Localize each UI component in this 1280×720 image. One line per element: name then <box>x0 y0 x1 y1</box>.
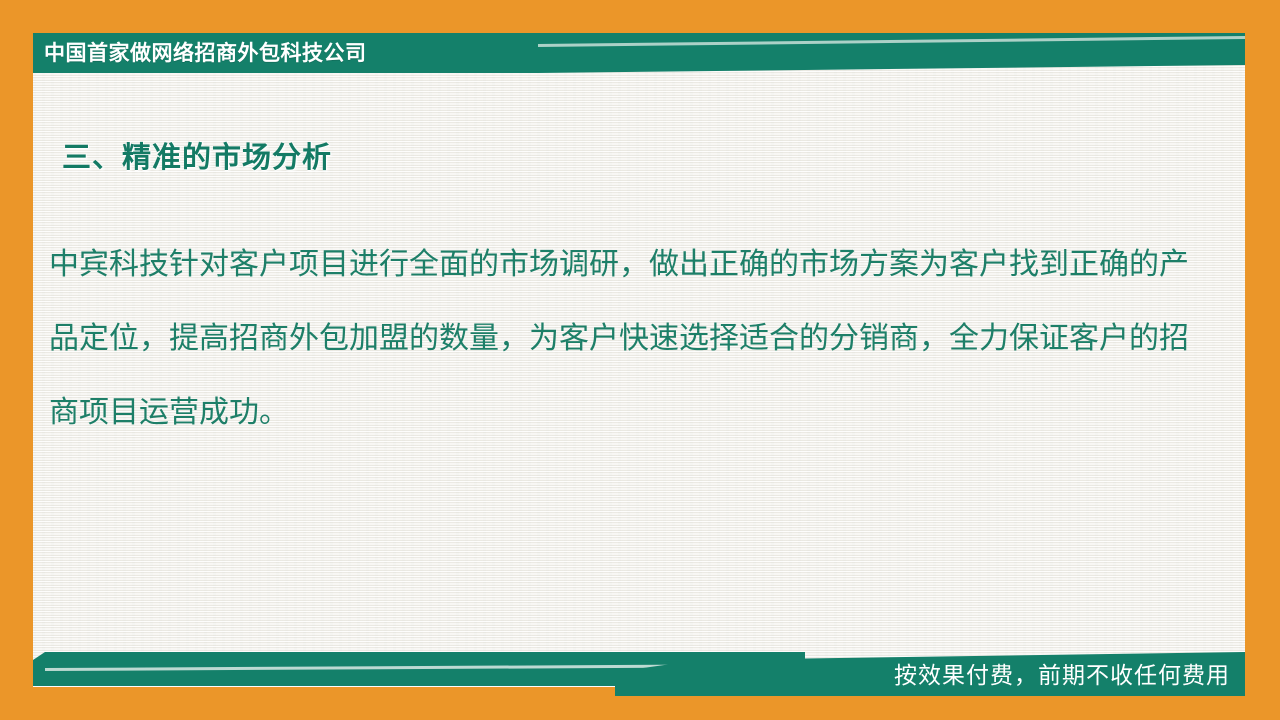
page-title: 三、精准的市场分析 <box>62 134 332 176</box>
footer-slogan: 按效果付费，前期不收任何费用 <box>894 656 1230 690</box>
body-paragraph: 中宾科技针对客户项目进行全面的市场调研，做出正确的市场方案为客户找到正确的产品定… <box>49 228 1189 450</box>
presentation-slide: 中国首家做网络招商外包科技公司 三、精准的市场分析 中宾科技针对客户项目进行全面… <box>0 0 1280 720</box>
body-paragraph-block: 中宾科技针对客户项目进行全面的市场调研，做出正确的市场方案为客户找到正确的产品定… <box>49 228 1189 450</box>
header-title: 中国首家做网络招商外包科技公司 <box>44 38 367 68</box>
